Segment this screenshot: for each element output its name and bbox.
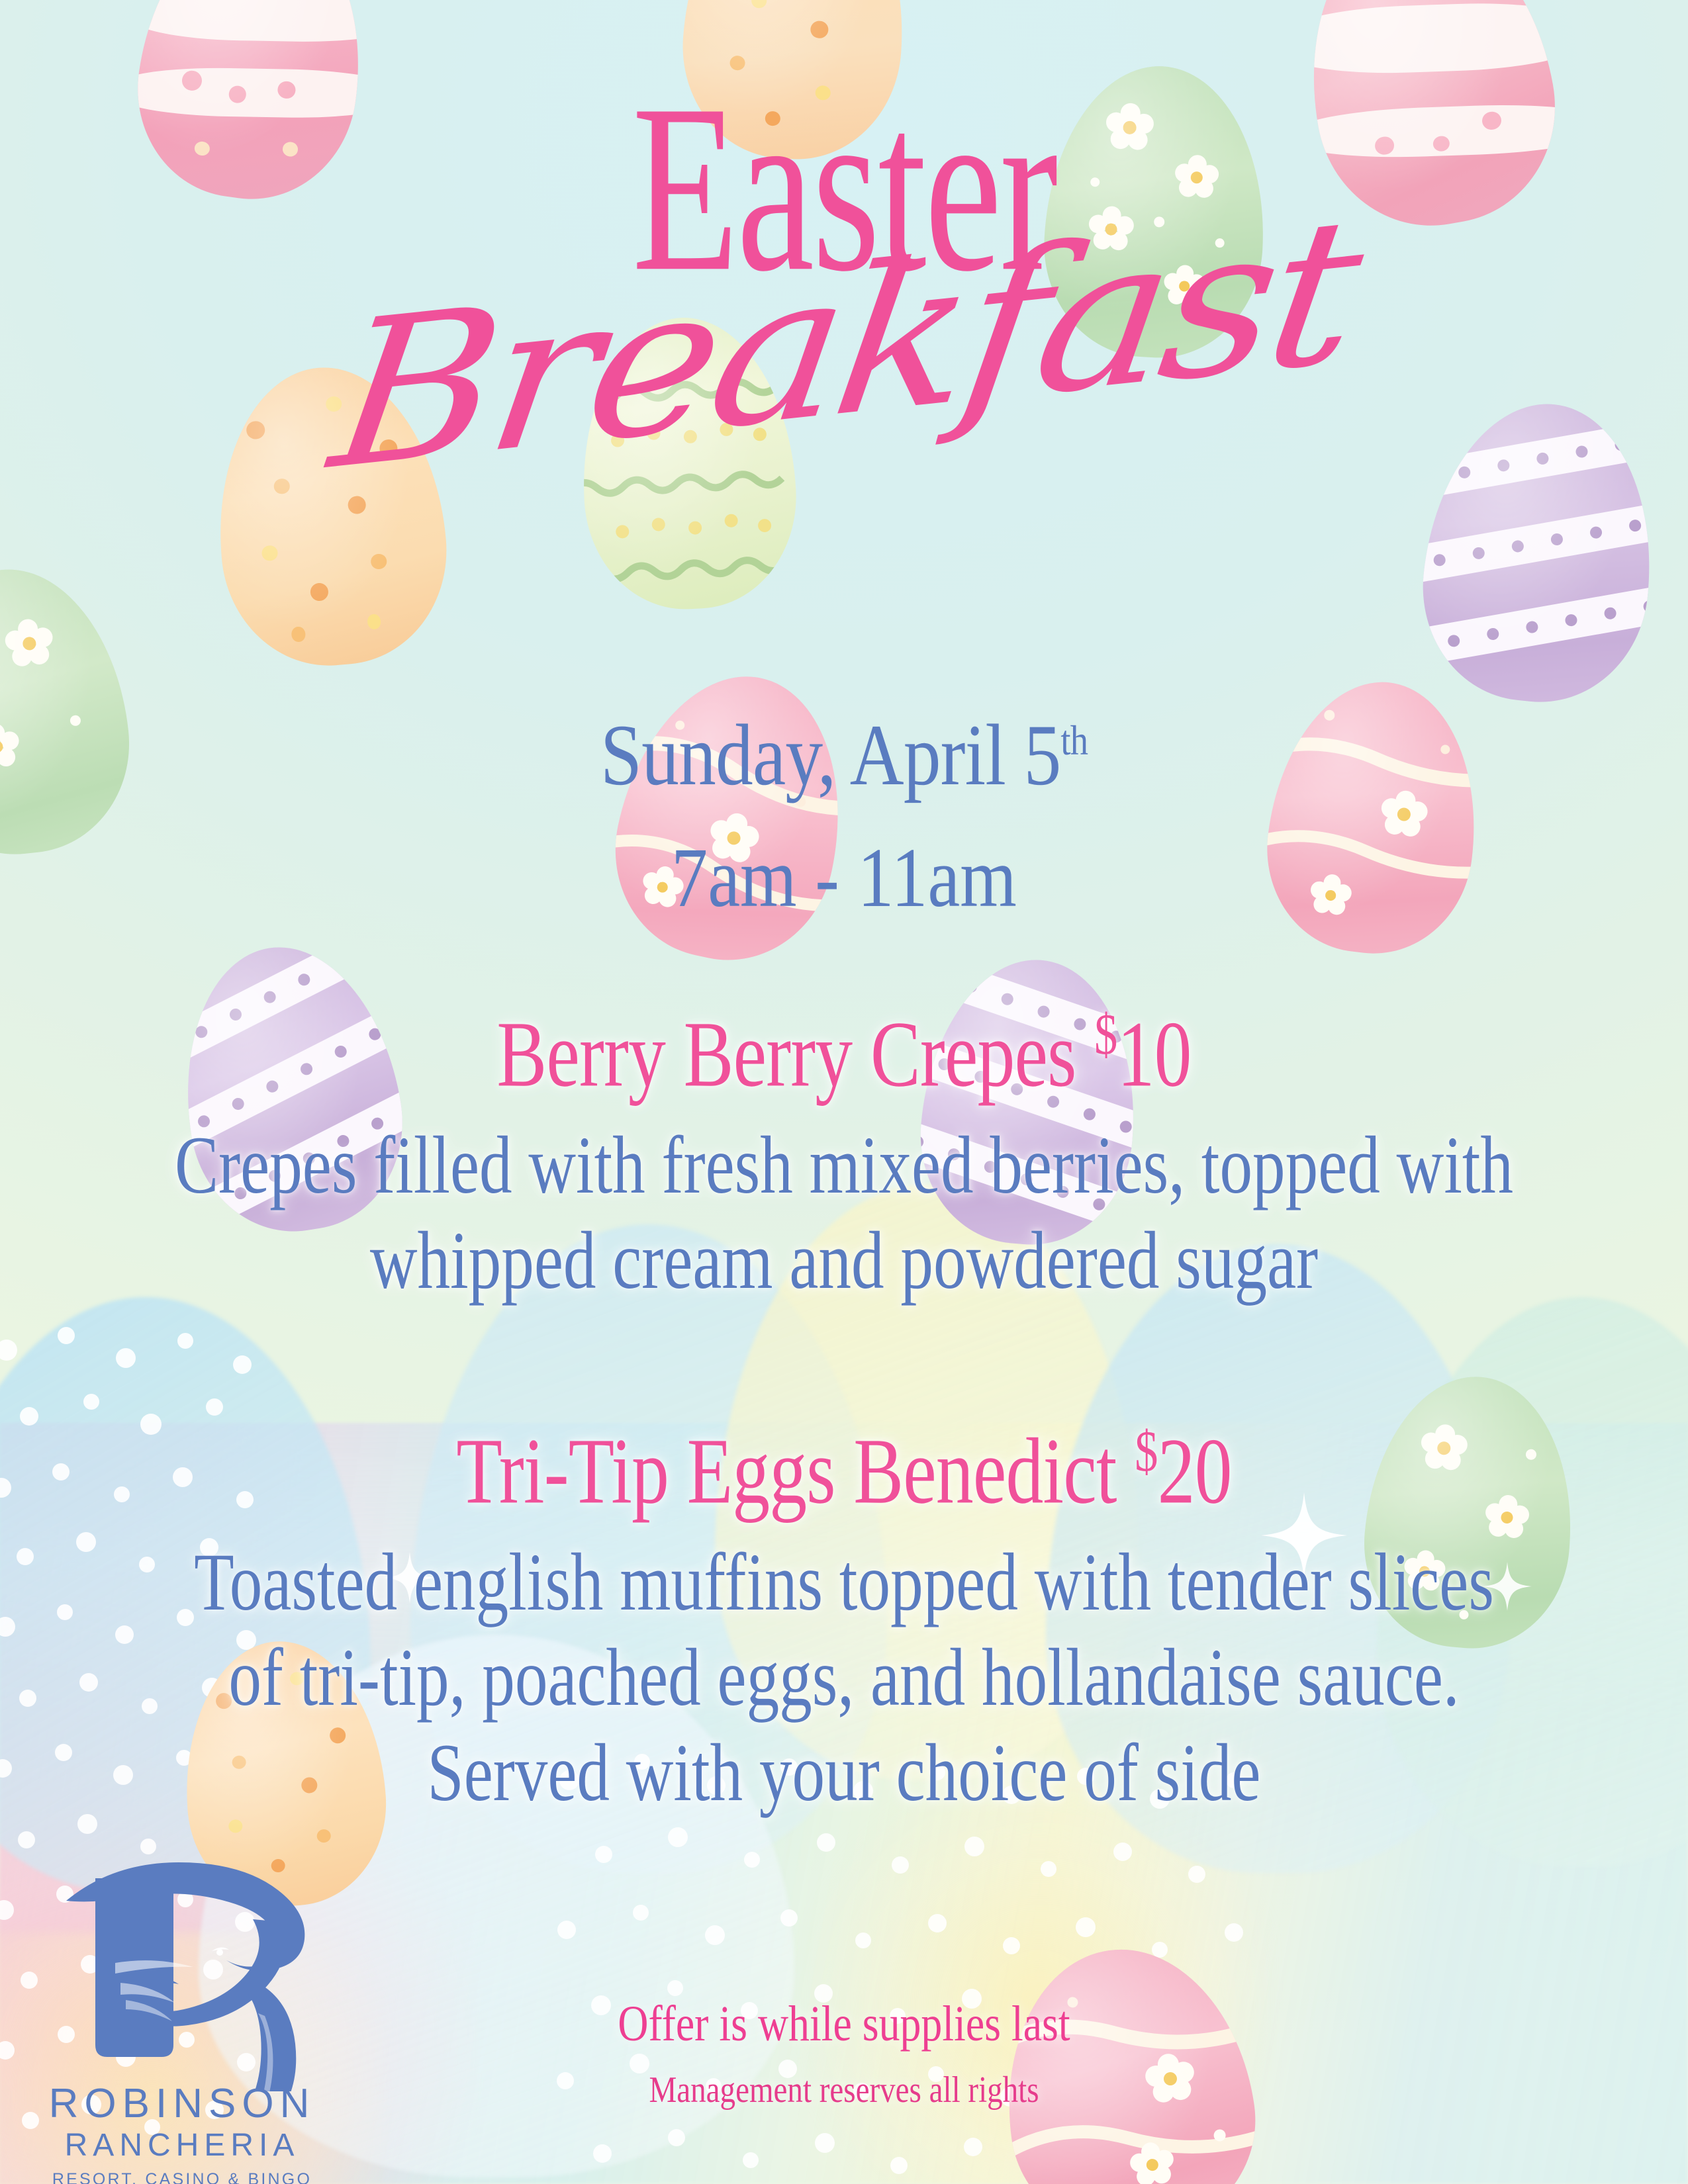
logo-line-rancheria: RANCHERIA <box>40 2124 324 2166</box>
event-date: Sunday, April 5th <box>118 711 1570 799</box>
menu-item-2-price: 20 <box>1158 1418 1232 1523</box>
logo-line-tagline: RESORT, CASINO & BINGO <box>40 2166 324 2184</box>
menu-item-2-desc-line-2: of tri-tip, poached eggs, and hollandais… <box>169 1630 1519 1725</box>
menu-item-2: Tri-Tip Eggs Benedict $20 Toasted englis… <box>0 1423 1688 1821</box>
eagle-feather-r-icon <box>54 1827 312 2091</box>
robinson-rancheria-logo: ROBINSON RANCHERIA RESORT, CASINO & BING… <box>40 1827 324 2171</box>
easter-breakfast-flyer: Easter Breakfast Sunday, April 5th 7am -… <box>0 0 1688 2184</box>
menu-item-1-desc-line-2: whipped cream and powdered sugar <box>169 1213 1519 1308</box>
event-date-ordinal: th <box>1060 717 1088 764</box>
disclaimer-supplies: Offer is while supplies last <box>135 1999 1553 2049</box>
menu-item-1-desc-line-1: Crepes filled with fresh mixed berries, … <box>169 1118 1519 1213</box>
event-date-text: Sunday, April 5 <box>600 706 1061 803</box>
menu-item-2-desc-line-1: Toasted english muffins topped with tend… <box>169 1535 1519 1630</box>
menu-item-1-currency: $ <box>1094 1003 1117 1067</box>
menu-item-2-currency: $ <box>1135 1420 1157 1484</box>
poster-content: Easter Breakfast Sunday, April 5th 7am -… <box>0 0 1688 2184</box>
menu-item-1-price: 10 <box>1117 1001 1192 1106</box>
logo-line-robinson: ROBINSON <box>40 2083 324 2124</box>
menu-item-1-description: Crepes filled with fresh mixed berries, … <box>169 1118 1519 1308</box>
menu-item-2-description: Toasted english muffins topped with tend… <box>169 1535 1519 1820</box>
menu-item-2-name-row: Tri-Tip Eggs Benedict $20 <box>169 1423 1519 1518</box>
menu-item-2-desc-line-3: Served with your choice of side <box>169 1725 1519 1821</box>
menu-item-1-name: Berry Berry Crepes <box>496 1001 1076 1106</box>
menu-item-2-name: Tri-Tip Eggs Benedict <box>456 1418 1116 1523</box>
event-time: 7am - 11am <box>118 835 1570 920</box>
menu-item-1: Berry Berry Crepes $10 Crepes filled wit… <box>0 1006 1688 1308</box>
menu-item-1-name-row: Berry Berry Crepes $10 <box>169 1006 1519 1101</box>
disclaimer-management: Management reserves all rights <box>135 2071 1553 2109</box>
logo-wordmark: ROBINSON RANCHERIA RESORT, CASINO & BING… <box>40 2083 324 2184</box>
